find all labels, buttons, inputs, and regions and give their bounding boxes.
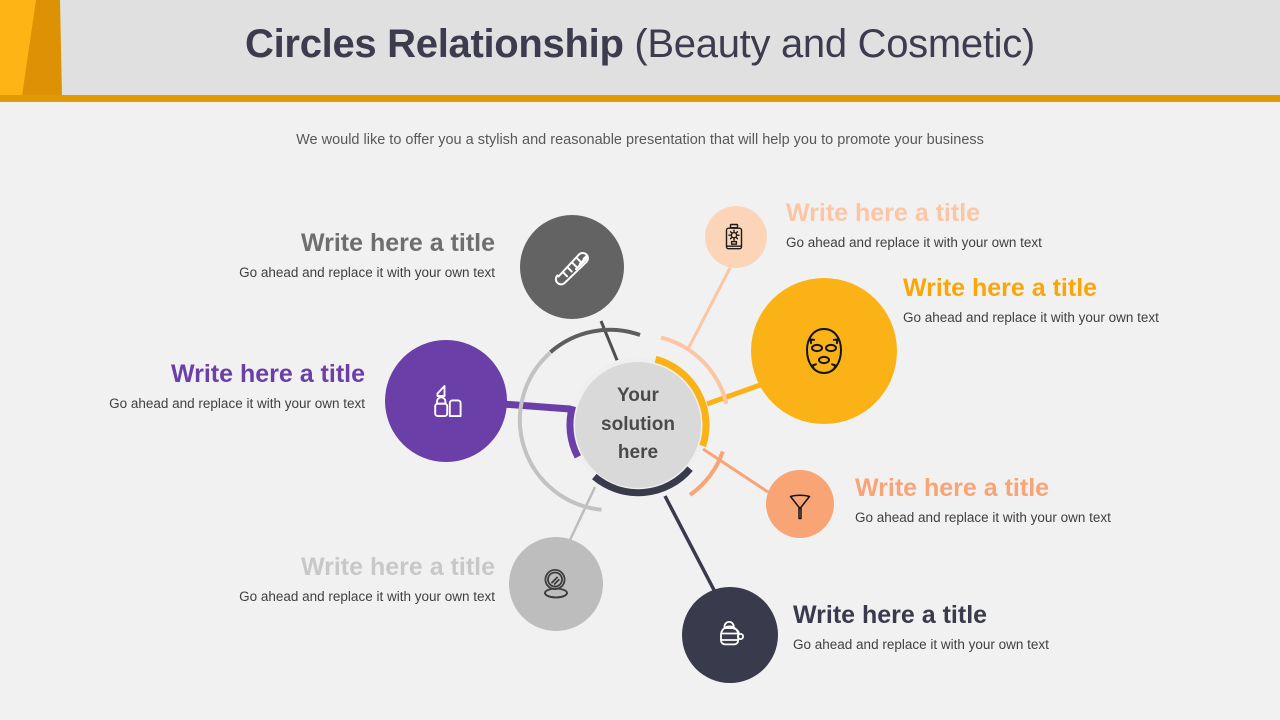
node-sunscreen[interactable] xyxy=(705,206,767,268)
hub-line-3: here xyxy=(618,442,658,463)
hub-line-1: Your xyxy=(617,385,659,406)
spoke-facemask xyxy=(707,384,763,404)
textblock-brush: Write here a title Go ahead and replace … xyxy=(855,475,1195,525)
textblock-sunscreen-title: Write here a title xyxy=(786,200,1206,228)
textblock-compact-desc: Go ahead and replace it with your own te… xyxy=(150,589,495,604)
node-facemask[interactable] xyxy=(751,278,897,424)
sunscreen-tube-icon xyxy=(719,220,753,254)
textblock-facemask-desc: Go ahead and replace it with your own te… xyxy=(903,310,1243,325)
face-mask-icon xyxy=(793,320,855,382)
textblock-brush-title: Write here a title xyxy=(855,475,1195,503)
textblock-perfume: Write here a title Go ahead and replace … xyxy=(793,602,1133,652)
hub-line-2: solution xyxy=(601,414,675,435)
spoke-lipstick xyxy=(503,404,570,409)
textblock-facemask-title: Write here a title xyxy=(903,275,1243,303)
textblock-perfume-title: Write here a title xyxy=(793,602,1133,630)
textblock-facemask: Write here a title Go ahead and replace … xyxy=(903,275,1243,325)
textblock-brush-desc: Go ahead and replace it with your own te… xyxy=(855,510,1195,525)
compact-powder-icon xyxy=(532,560,580,608)
textblock-comb-title: Write here a title xyxy=(150,230,495,258)
node-lipstick[interactable] xyxy=(385,340,507,462)
hub-label: Your solution here xyxy=(601,382,675,469)
node-compact[interactable] xyxy=(509,537,603,631)
spoke-sunscreen xyxy=(688,268,730,349)
spoke-perfume xyxy=(665,496,714,590)
textblock-compact-title: Write here a title xyxy=(150,554,495,582)
comb-icon xyxy=(545,240,599,294)
textblock-compact: Write here a title Go ahead and replace … xyxy=(150,554,495,604)
node-comb[interactable] xyxy=(520,215,624,319)
hub-center[interactable]: Your solution here xyxy=(575,362,701,488)
perfume-bottle-icon xyxy=(706,611,754,659)
textblock-comb: Write here a title Go ahead and replace … xyxy=(150,230,495,280)
lipstick-icon xyxy=(418,373,474,429)
makeup-brush-icon xyxy=(783,487,817,521)
textblock-lipstick-desc: Go ahead and replace it with your own te… xyxy=(20,396,365,411)
textblock-lipstick: Write here a title Go ahead and replace … xyxy=(20,361,365,411)
textblock-lipstick-title: Write here a title xyxy=(20,361,365,389)
textblock-comb-desc: Go ahead and replace it with your own te… xyxy=(150,265,495,280)
spoke-compact xyxy=(570,487,595,540)
textblock-perfume-desc: Go ahead and replace it with your own te… xyxy=(793,637,1133,652)
textblock-sunscreen-desc: Go ahead and replace it with your own te… xyxy=(786,235,1206,250)
outer-arc-gray xyxy=(550,330,640,352)
textblock-sunscreen: Write here a title Go ahead and replace … xyxy=(786,200,1206,250)
spoke-comb xyxy=(601,321,619,365)
node-perfume[interactable] xyxy=(682,587,778,683)
circles-relationship-diagram: Your solution here xyxy=(0,0,1280,720)
node-brush[interactable] xyxy=(766,470,834,538)
